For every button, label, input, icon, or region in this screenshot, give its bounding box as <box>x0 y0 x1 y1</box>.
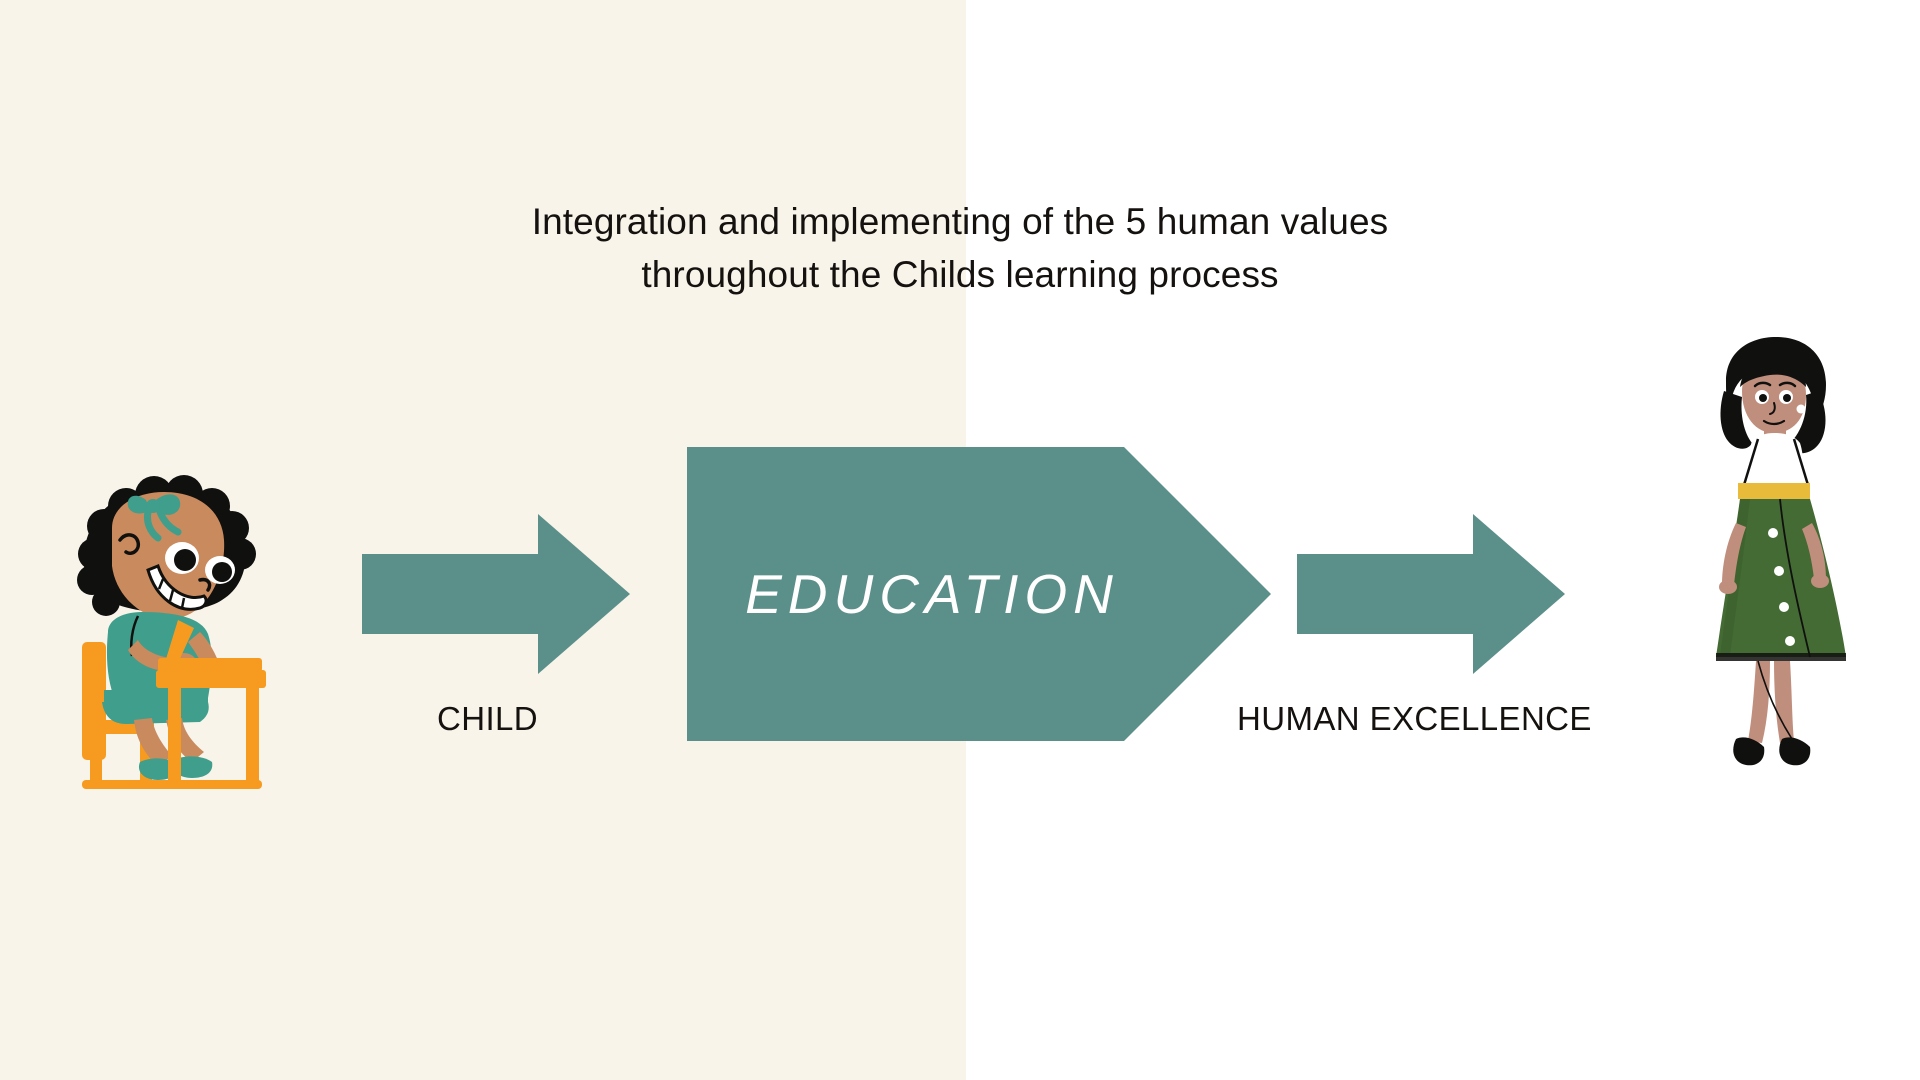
title-line-2: throughout the Childs learning process <box>0 249 1920 302</box>
arrow-child-to-education <box>362 514 630 674</box>
title-line-1: Integration and implementing of the 5 hu… <box>0 196 1920 249</box>
child-writing-at-desk-illustration <box>60 462 285 792</box>
education-process-arrow <box>687 447 1271 741</box>
child-caption: CHILD <box>437 700 538 738</box>
slide-title: Integration and implementing of the 5 hu… <box>0 196 1920 301</box>
woman-standing-illustration <box>1700 335 1860 790</box>
slide-canvas: Integration and implementing of the 5 hu… <box>0 0 1920 1080</box>
arrow-education-to-excellence <box>1297 514 1565 674</box>
human-excellence-caption: HUMAN EXCELLENCE <box>1237 700 1592 738</box>
